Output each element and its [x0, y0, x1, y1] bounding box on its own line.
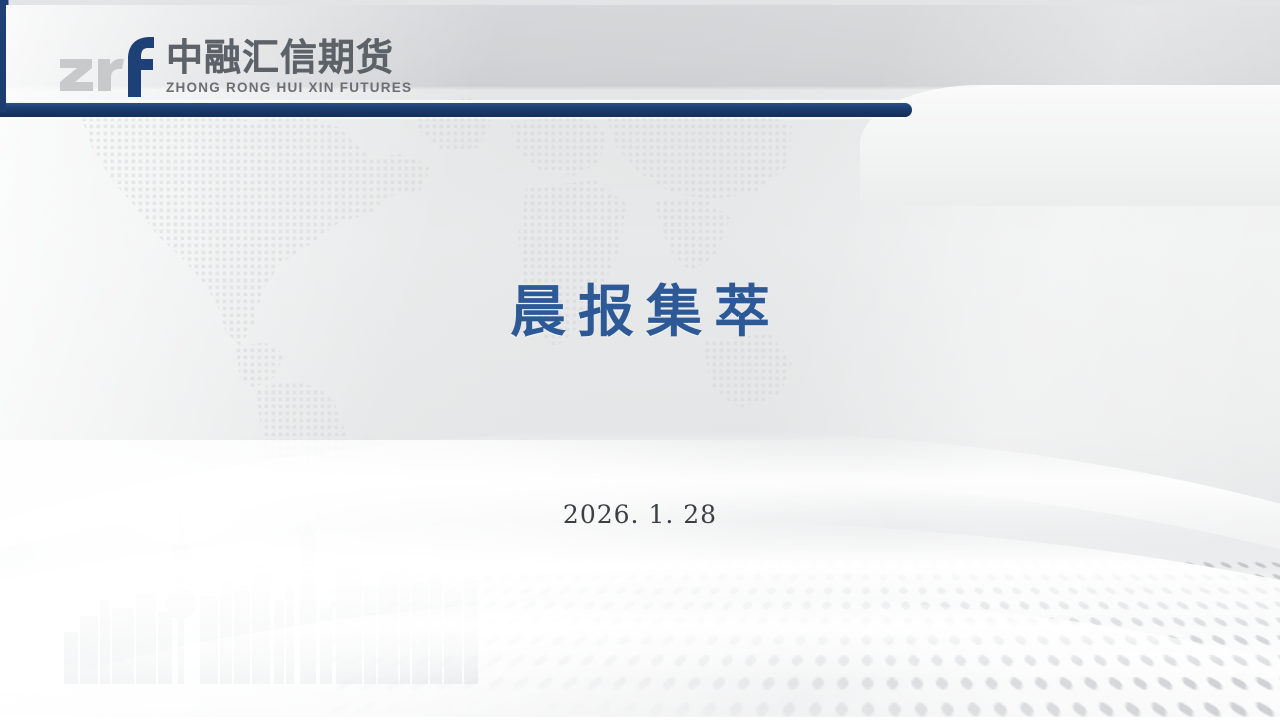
header-curve-panel — [860, 86, 1280, 206]
company-logo: 中融汇信期货 ZHONG RONG HUI XIN FUTURES — [58, 30, 412, 102]
logo-company-name-cn: 中融汇信期货 — [166, 39, 412, 76]
header-accent-bar — [0, 100, 915, 122]
slide-date: 2026. 1. 28 — [0, 500, 1280, 529]
logo-company-name-en: ZHONG RONG HUI XIN FUTURES — [166, 81, 412, 95]
title-slide: 中融汇信期货 ZHONG RONG HUI XIN FUTURES 晨报集萃 2… — [0, 0, 1280, 720]
zrf-lettermark-icon — [58, 35, 154, 97]
top-edge-strip — [0, 0, 1280, 5]
left-edge-strip — [0, 0, 6, 112]
corner-glow — [0, 440, 900, 720]
logo-wordmark: 中融汇信期货 ZHONG RONG HUI XIN FUTURES — [166, 37, 412, 95]
slide-title: 晨报集萃 — [0, 282, 1280, 344]
